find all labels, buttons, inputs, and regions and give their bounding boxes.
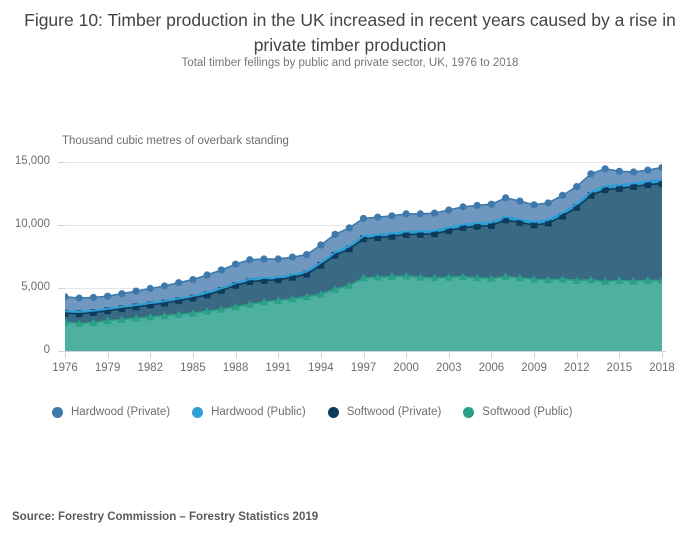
x-tick-mark (364, 351, 365, 358)
data-point (331, 231, 338, 238)
data-point (587, 170, 594, 177)
x-tick-label: 2006 (469, 362, 513, 374)
legend-item[interactable]: Hardwood (Public) (192, 406, 306, 418)
y-tick-mark (58, 351, 65, 352)
y-tick-mark (58, 288, 65, 289)
x-tick-label: 1991 (256, 362, 300, 374)
data-point (374, 214, 381, 221)
y-tick-mark (58, 162, 65, 163)
data-point (303, 251, 310, 258)
legend-item[interactable]: Hardwood (Private) (52, 406, 170, 418)
data-point (644, 166, 651, 173)
data-point (502, 194, 509, 201)
data-point (175, 279, 182, 286)
legend-item[interactable]: Softwood (Private) (328, 406, 442, 418)
data-point (388, 212, 395, 219)
x-tick-mark (491, 351, 492, 358)
data-point (76, 294, 83, 301)
data-point (317, 241, 324, 248)
x-tick-mark (619, 351, 620, 358)
legend-color-swatch-icon (52, 407, 63, 418)
data-point (545, 199, 552, 206)
x-tick-mark (321, 351, 322, 358)
data-point (132, 288, 139, 295)
legend-label: Softwood (Public) (482, 406, 572, 418)
data-point (573, 183, 580, 190)
figure-title: Figure 10: Timber production in the UK i… (0, 8, 700, 58)
legend-label: Hardwood (Private) (71, 406, 170, 418)
data-point (246, 256, 253, 263)
data-point (459, 203, 466, 210)
figure-subtitle: Total timber fellings by public and priv… (0, 57, 700, 69)
data-point (431, 210, 438, 217)
x-tick-mark (534, 351, 535, 358)
x-tick-mark (193, 351, 194, 358)
y-tick-label: 15,000 (0, 155, 50, 167)
data-point (218, 266, 225, 273)
x-tick-label: 2018 (640, 362, 684, 374)
x-tick-mark (577, 351, 578, 358)
legend-color-swatch-icon (328, 407, 339, 418)
x-tick-label: 1979 (86, 362, 130, 374)
data-point (602, 165, 609, 172)
data-point (289, 254, 296, 261)
y-tick-label: 10,000 (0, 218, 50, 230)
y-tick-mark (58, 225, 65, 226)
x-tick-mark (65, 351, 66, 358)
data-point (530, 201, 537, 208)
data-point (516, 197, 523, 204)
data-point (488, 201, 495, 208)
data-point (104, 293, 111, 300)
data-point (232, 261, 239, 268)
x-tick-mark (406, 351, 407, 358)
data-point (630, 168, 637, 175)
source-note: Source: Forestry Commission – Forestry S… (12, 511, 318, 523)
y-tick-label: 0 (0, 344, 50, 356)
chart-legend: Hardwood (Private)Hardwood (Public)Softw… (52, 406, 594, 418)
data-point (616, 168, 623, 175)
y-axis-label: Thousand cubic metres of overbark standi… (62, 135, 289, 147)
data-point (445, 206, 452, 213)
x-tick-label: 1994 (299, 362, 343, 374)
x-tick-label: 1985 (171, 362, 215, 374)
data-point (559, 192, 566, 199)
x-tick-mark (449, 351, 450, 358)
x-tick-mark (150, 351, 151, 358)
x-tick-label: 2012 (555, 362, 599, 374)
x-tick-mark (236, 351, 237, 358)
x-tick-label: 2000 (384, 362, 428, 374)
x-tick-label: 2003 (427, 362, 471, 374)
data-point (118, 290, 125, 297)
legend-label: Hardwood (Public) (211, 406, 306, 418)
figure-container: Figure 10: Timber production in the UK i… (0, 0, 700, 549)
x-tick-label: 2015 (597, 362, 641, 374)
data-point (275, 255, 282, 262)
data-point (161, 282, 168, 289)
x-tick-label: 2009 (512, 362, 556, 374)
data-point (474, 202, 481, 209)
data-point (360, 215, 367, 222)
legend-item[interactable]: Softwood (Public) (463, 406, 572, 418)
legend-color-swatch-icon (192, 407, 203, 418)
legend-color-swatch-icon (463, 407, 474, 418)
x-tick-label: 1988 (214, 362, 258, 374)
data-point (90, 294, 97, 301)
plot-area (65, 162, 662, 351)
data-point (417, 210, 424, 217)
data-point (403, 210, 410, 217)
x-tick-mark (662, 351, 663, 358)
data-point (346, 224, 353, 231)
data-point (204, 271, 211, 278)
x-tick-mark (108, 351, 109, 358)
x-tick-label: 1976 (43, 362, 87, 374)
legend-label: Softwood (Private) (347, 406, 442, 418)
x-tick-label: 1982 (128, 362, 172, 374)
y-tick-label: 5,000 (0, 281, 50, 293)
stacked-area-chart (65, 162, 662, 351)
data-point (147, 285, 154, 292)
x-tick-mark (278, 351, 279, 358)
data-point (260, 255, 267, 262)
data-point (189, 276, 196, 283)
x-tick-label: 1997 (342, 362, 386, 374)
